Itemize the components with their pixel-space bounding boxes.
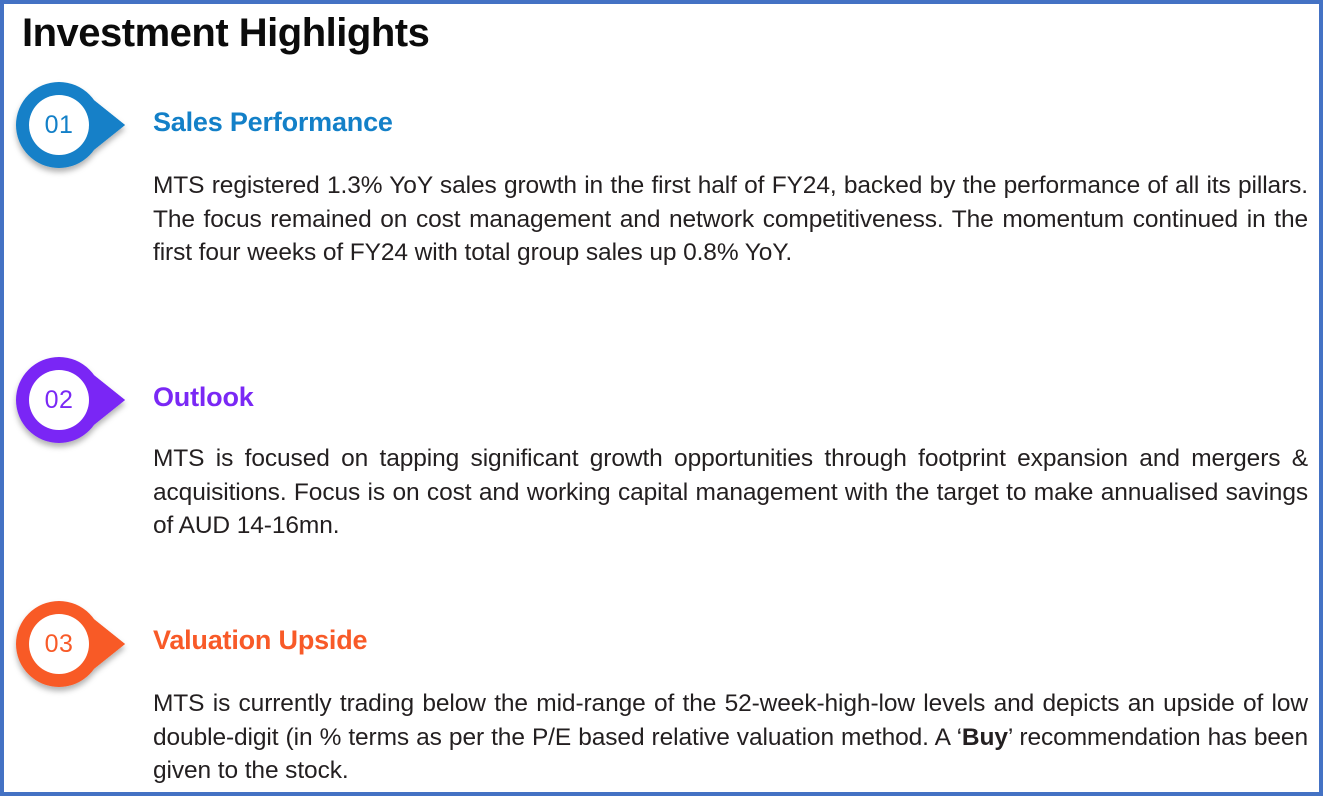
numbered-pin-badge-icon bbox=[16, 82, 128, 168]
investment-highlights-slide: Investment Highlights 01 Sales Performan… bbox=[0, 0, 1323, 796]
section-body: MTS registered 1.3% YoY sales growth in … bbox=[153, 169, 1308, 270]
numbered-pin-badge-icon bbox=[16, 601, 128, 687]
numbered-pin-badge: 02 bbox=[16, 357, 128, 443]
numbered-pin-badge: 01 bbox=[16, 82, 128, 168]
section-body: MTS is focused on tapping significant gr… bbox=[153, 442, 1308, 543]
section-heading: Outlook bbox=[153, 382, 254, 413]
section-body-prefix: MTS registered 1.3% YoY sales growth in … bbox=[153, 172, 1308, 266]
section-body-prefix: MTS is focused on tapping significant gr… bbox=[153, 445, 1308, 539]
section-heading: Valuation Upside bbox=[153, 625, 367, 656]
numbered-pin-badge: 03 bbox=[16, 601, 128, 687]
section-heading: Sales Performance bbox=[153, 107, 393, 138]
page-title: Investment Highlights bbox=[22, 10, 429, 56]
numbered-pin-badge-icon bbox=[16, 357, 128, 443]
section-body: MTS is currently trading below the mid-r… bbox=[153, 687, 1308, 788]
section-body-emphasis: Buy bbox=[962, 724, 1008, 751]
